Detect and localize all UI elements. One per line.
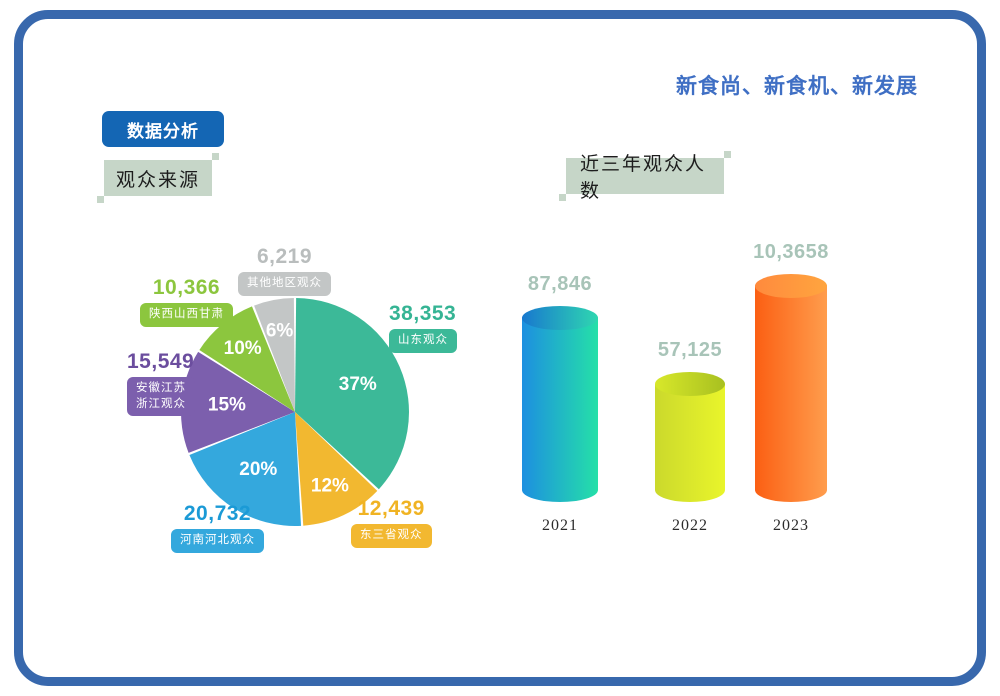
pie-callout-henan-hebei: 20,732 河南河北观众 [171,503,264,553]
chart-tag-label: 近三年观众人数 [580,149,724,203]
pie-slice-percent-label: 6% [266,320,294,341]
bar-cylinder [755,274,827,502]
cylinder-top-cap [755,274,827,298]
pie-callout-value: 38,353 [389,303,457,325]
cylinder-body [522,318,598,502]
pie-callout-chip: 安徽江苏 浙江观众 [127,377,195,416]
bar-value-label: 57,125 [620,339,760,362]
chart-tag-three-year-audience: 近三年观众人数 [566,158,724,194]
bar-category-label: 2023 [721,517,861,535]
tag-notch-bottom-left [97,196,104,203]
slide-slogan: 新食尚、新食机、新发展 [676,70,918,100]
cylinder-top-cap [522,306,598,330]
tag-notch-top-right [212,153,219,160]
pie-callout-northeast-three-provinces: 12,439 东三省观众 [351,498,432,548]
pie-callout-anhui-jiangsu-zhejiang: 15,549 安徽江苏 浙江观众 [127,351,195,416]
bar-column: 87,8462021 [522,306,598,502]
cylinder-top-cap [655,372,725,396]
pie-callout-chip: 山东观众 [389,329,457,353]
pie-slice-percent-label: 15% [208,395,246,416]
chart-tag-audience-source: 观众来源 [104,160,212,196]
bar-column: 10,36582023 [755,274,827,502]
bar-cylinder [522,306,598,502]
pie-callout-shaanxi-shanxi-gansu: 10,366 陕西山西甘肃 [140,277,233,327]
pie-callout-value: 20,732 [171,503,264,525]
pie-slice-percent-label: 10% [224,338,262,359]
pie-callout-value: 15,549 [127,351,195,373]
pie-callout-chip-line2: 浙江观众 [136,398,186,410]
pie-callout-chip: 其他地区观众 [238,272,331,296]
pie-chart: 37%12%20%15%10%6% [180,297,410,527]
pie-chart-svg: 37%12%20%15%10%6% [180,297,410,527]
pie-slice-percent-label: 20% [239,459,277,480]
pie-callout-chip-line1: 安徽江苏 [136,382,186,394]
cylinder-body [655,384,725,502]
pie-callout-shandong: 38,353 山东观众 [389,303,457,353]
pie-callout-chip: 河南河北观众 [171,529,264,553]
tag-notch-top-right [724,151,731,158]
pie-slice-percent-label: 37% [339,374,377,395]
cylinder-body [755,286,827,502]
pie-callout-other-regions: 6,219 其他地区观众 [238,246,331,296]
pie-callout-value: 6,219 [238,246,331,268]
bar-value-label: 10,3658 [721,241,861,264]
pie-callout-chip: 陕西山西甘肃 [140,303,233,327]
bar-column: 57,1252022 [655,372,725,502]
section-badge-data-analysis: 数据分析 [102,111,224,147]
pie-callout-value: 12,439 [351,498,432,520]
tag-notch-bottom-left [559,194,566,201]
chart-tag-label: 观众来源 [116,165,200,192]
pie-callout-value: 10,366 [140,277,233,299]
bar-value-label: 87,846 [490,273,630,296]
pie-callout-chip: 东三省观众 [351,524,432,548]
slide-canvas: 新食尚、新食机、新发展 数据分析 观众来源 近三年观众人数 37%12%20%1… [0,0,1000,696]
bar-chart: 87,846202157,125202210,36582023 [500,230,900,540]
pie-slice-percent-label: 12% [311,475,349,496]
bar-category-label: 2021 [490,517,630,535]
bar-cylinder [655,372,725,502]
